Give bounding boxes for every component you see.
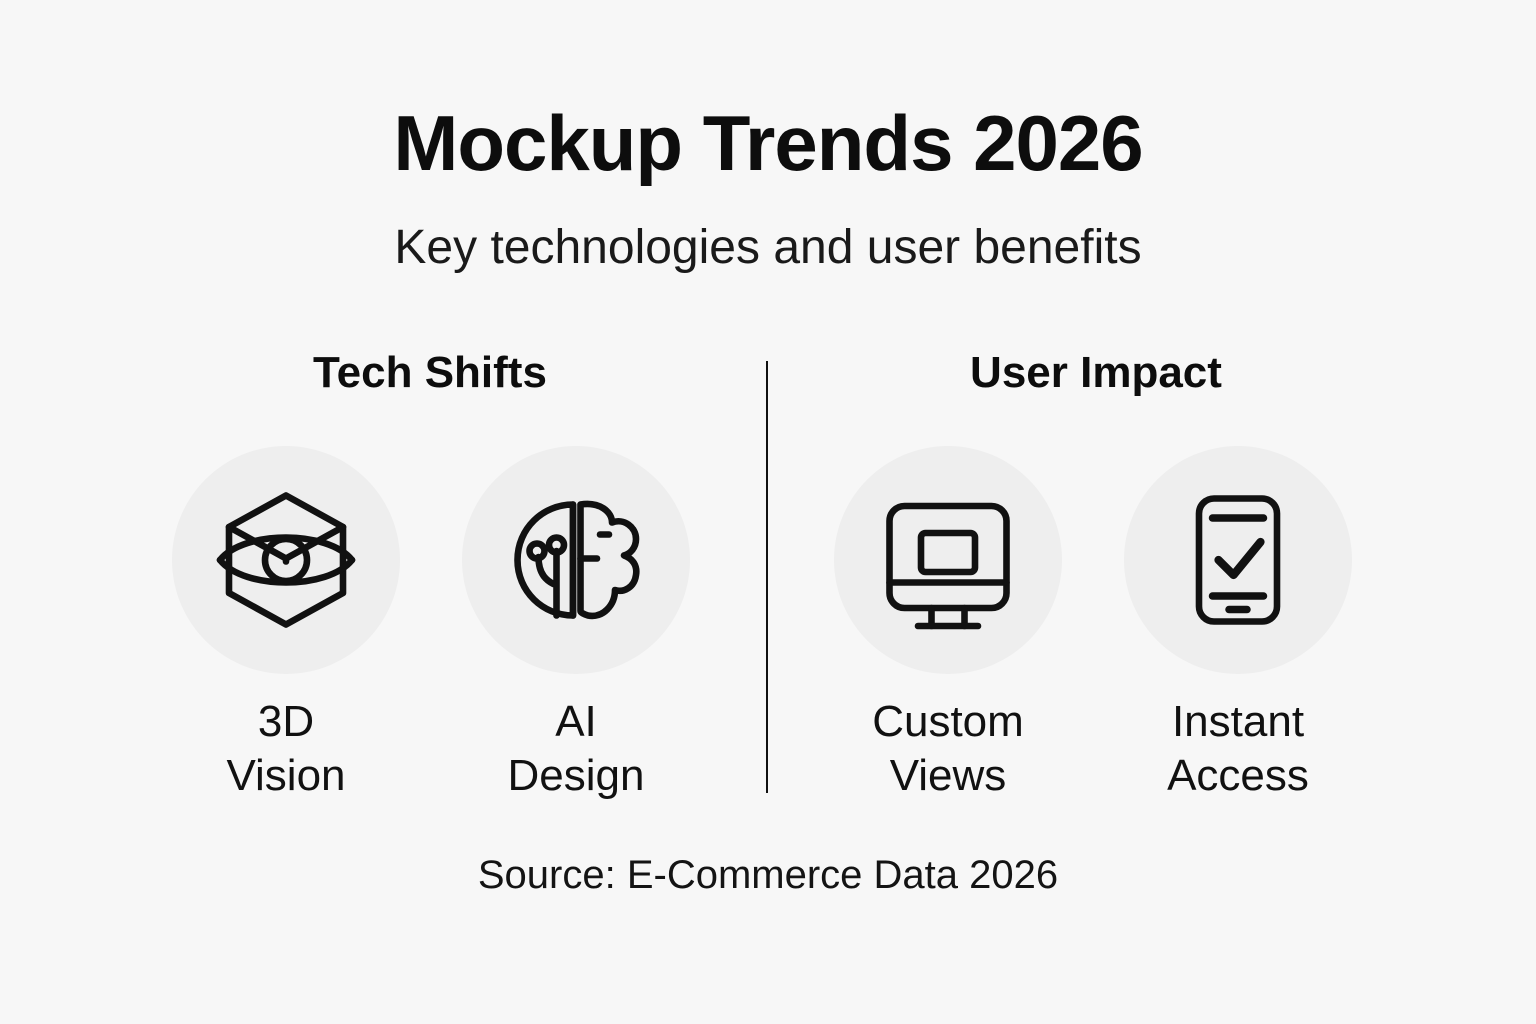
page-subtitle: Key technologies and user benefits — [0, 222, 1536, 275]
icon-circle-instant-access — [1124, 446, 1352, 674]
item-ai-design: AI Design — [456, 446, 696, 803]
infographic-canvas: Mockup Trends 2026 Key technologies and … — [0, 0, 1536, 1024]
source-note: Source: E-Commerce Data 2026 — [0, 853, 1536, 898]
icon-circle-custom-views — [834, 446, 1062, 674]
section-header-user-impact: User Impact — [836, 348, 1356, 398]
icon-circle-ai-design — [462, 446, 690, 674]
page-title: Mockup Trends 2026 — [0, 103, 1536, 185]
monitor-icon — [873, 485, 1023, 635]
phone-check-icon — [1163, 485, 1313, 635]
item-instant-access: Instant Access — [1118, 446, 1358, 803]
item-label-ai-design: AI Design — [456, 695, 696, 803]
item-3d-vision: 3D Vision — [166, 446, 406, 803]
brain-ai-icon — [501, 485, 651, 635]
cube-eye-icon — [211, 485, 361, 635]
section-divider — [766, 361, 768, 793]
item-label-custom-views: Custom Views — [828, 695, 1068, 803]
section-header-tech-shifts: Tech Shifts — [170, 348, 690, 398]
item-custom-views: Custom Views — [828, 446, 1068, 803]
item-label-instant-access: Instant Access — [1118, 695, 1358, 803]
icon-circle-3d-vision — [172, 446, 400, 674]
item-label-3d-vision: 3D Vision — [166, 695, 406, 803]
